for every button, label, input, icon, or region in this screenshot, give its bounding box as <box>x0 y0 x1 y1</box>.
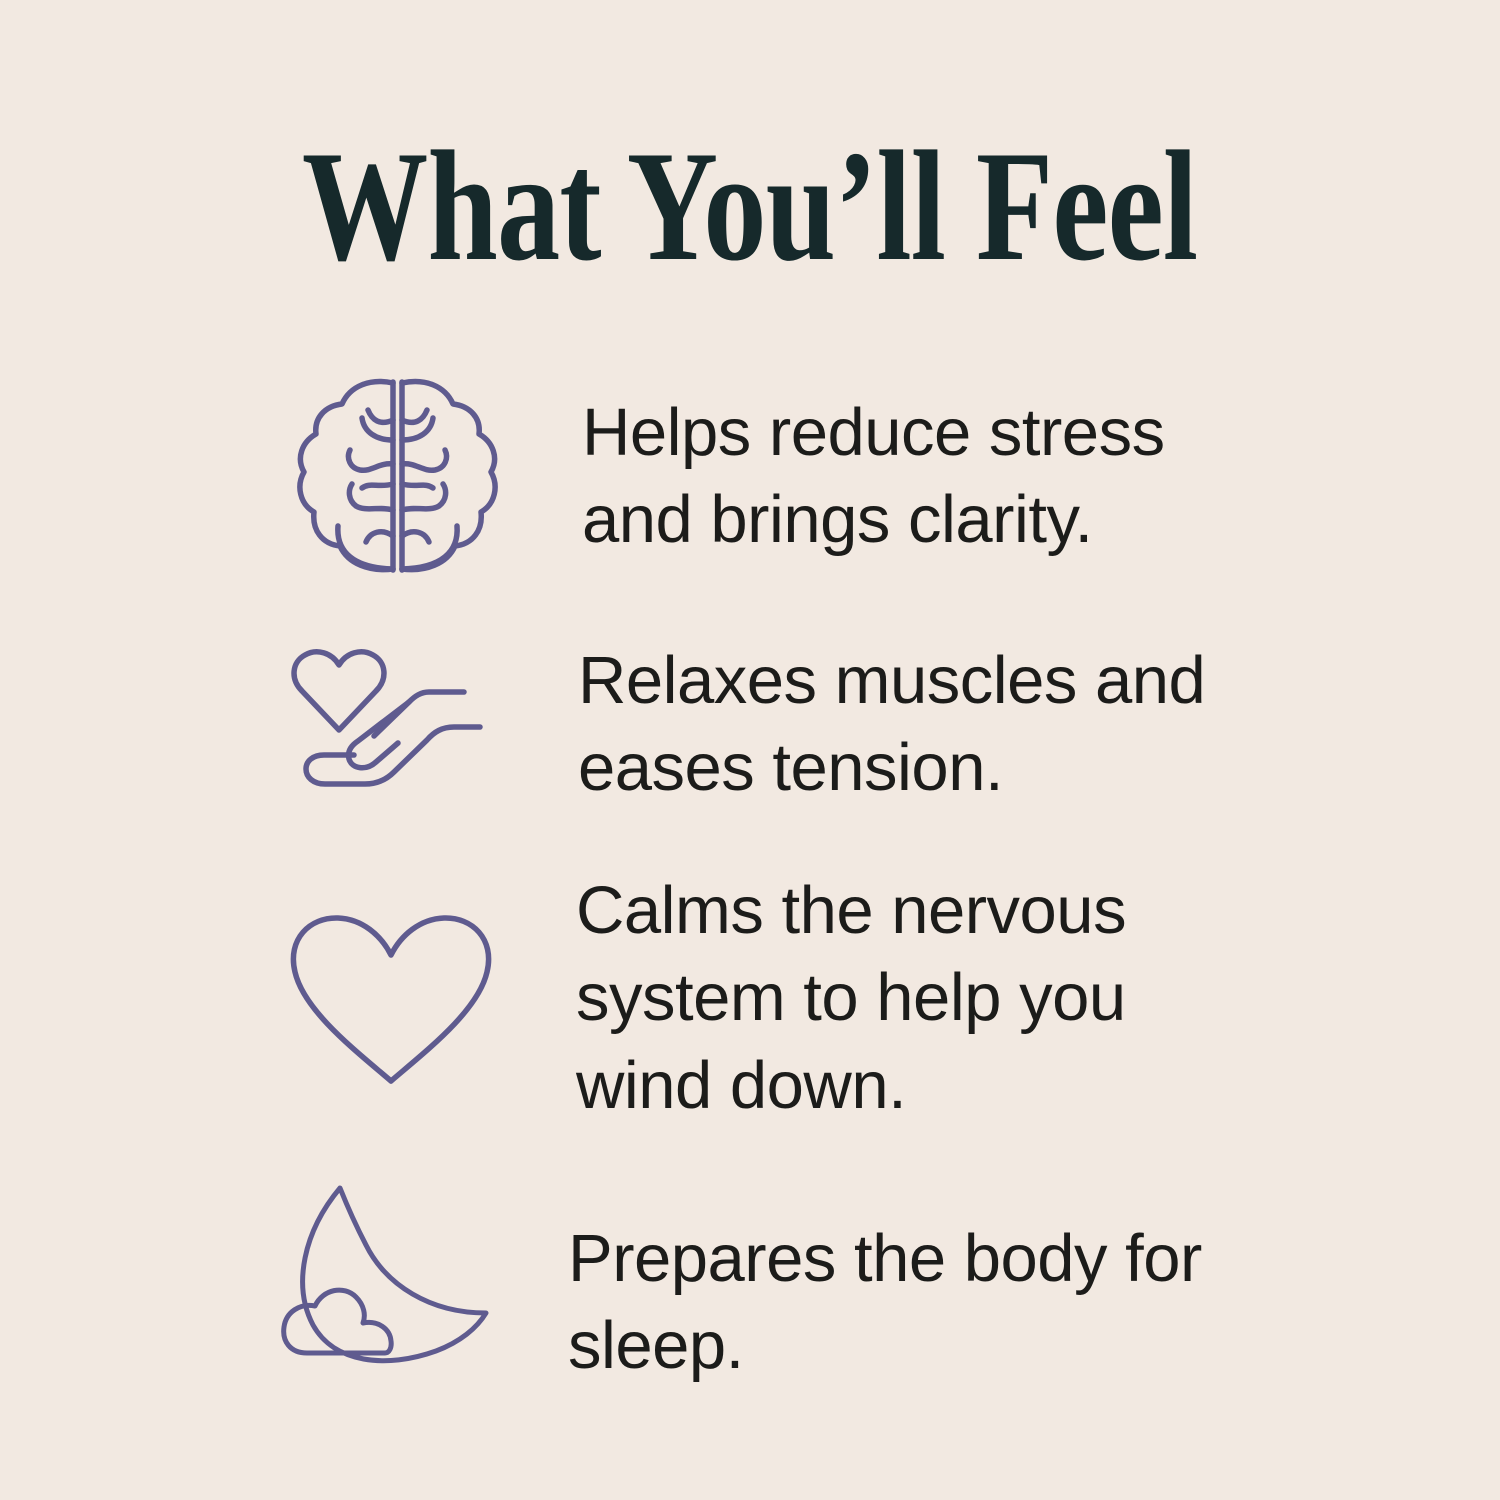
list-item: Relaxes muscles and eases tension. <box>0 600 1500 848</box>
what-you-will-feel-panel: What You’ll Feel <box>0 0 1500 1500</box>
benefit-text-container: Calms the nervous system to help you win… <box>576 867 1500 1128</box>
list-item: Calms the nervous system to help you win… <box>0 848 1500 1148</box>
benefits-list: Helps reduce stress and brings clarity. <box>0 352 1500 1398</box>
page-title: What You’ll Feel <box>302 128 1197 286</box>
heart-icon-container <box>286 911 576 1086</box>
list-item: Prepares the body for sleep. <box>0 1148 1500 1398</box>
benefit-text: Prepares the body for sleep. <box>568 1215 1268 1389</box>
moon-cloud-icon-container <box>278 1173 568 1373</box>
moon-cloud-icon <box>278 1173 508 1373</box>
heart-in-hand-icon-container <box>288 644 578 804</box>
brain-icon-container <box>292 376 582 576</box>
page-title-container: What You’ll Feel <box>0 128 1500 286</box>
benefit-text-container: Helps reduce stress and brings clarity. <box>582 389 1500 563</box>
list-item: Helps reduce stress and brings clarity. <box>0 352 1500 600</box>
benefit-text: Relaxes muscles and eases tension. <box>578 637 1278 811</box>
benefit-text: Helps reduce stress and brings clarity. <box>582 389 1282 563</box>
benefit-text-container: Relaxes muscles and eases tension. <box>578 637 1500 811</box>
heart-icon <box>286 911 496 1086</box>
heart-in-hand-icon <box>288 644 503 804</box>
brain-icon <box>292 376 502 576</box>
benefit-text: Calms the nervous system to help you win… <box>576 867 1276 1128</box>
benefit-text-container: Prepares the body for sleep. <box>568 1157 1500 1389</box>
